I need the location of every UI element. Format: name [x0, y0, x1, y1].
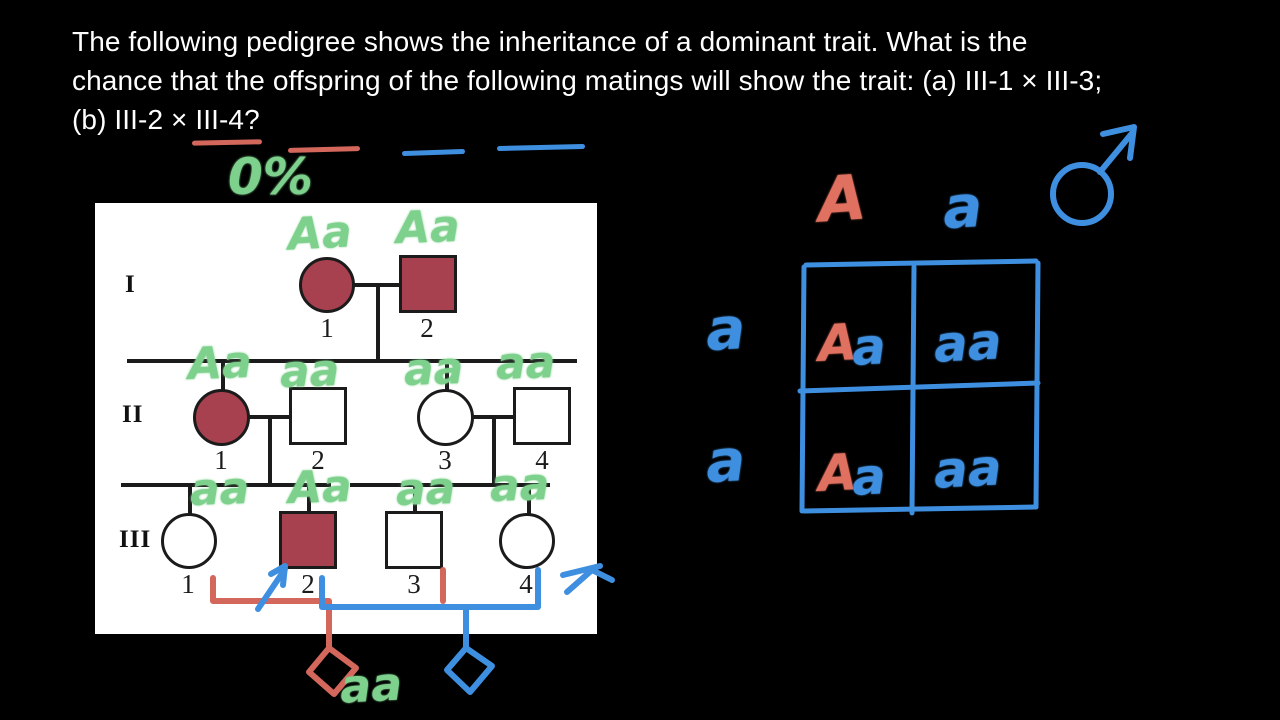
underline-iii-1 [192, 139, 262, 145]
punnett-grid [790, 255, 1050, 520]
individual-iii-3[interactable] [385, 511, 443, 569]
individual-iii-4[interactable] [499, 513, 555, 569]
punnett-side-gamete-a-1: a [705, 299, 747, 359]
question-text: The following pedigree shows the inherit… [72, 22, 1112, 139]
individual-i-1[interactable] [299, 257, 355, 313]
id-ii-1: 1 [194, 447, 248, 474]
answer-a-zero-percent: 0% [228, 152, 313, 202]
blue-diamond-icon [447, 648, 492, 692]
generation-label-i: I [125, 271, 136, 299]
punnett-top-gamete-A: A [816, 166, 868, 231]
sibship-line-iii-left [121, 483, 331, 487]
punnett-cell-0-1: aa [933, 316, 1003, 369]
individual-iii-2[interactable] [279, 511, 337, 569]
individual-iii-1[interactable] [161, 513, 217, 569]
descent-line-ii-left [268, 415, 272, 485]
slide-canvas: The following pedigree shows the inherit… [0, 0, 1280, 720]
id-iii-4: 4 [499, 571, 553, 598]
punnett-cell-1-0-a: a [851, 451, 887, 503]
individual-ii-2[interactable] [289, 387, 347, 445]
id-ii-3: 3 [418, 447, 472, 474]
pedigree-chart: I II III 1 2 1 2 3 4 1 [95, 203, 597, 634]
punnett-cell-0-0-A: A [817, 317, 858, 369]
descent-line-ii-right [492, 415, 496, 485]
id-i-2: 2 [400, 315, 454, 342]
descent-line-i [376, 283, 380, 362]
sibship-line-iii-right [350, 483, 550, 487]
id-ii-2: 2 [291, 447, 345, 474]
punnett-cell-0-0-a: a [851, 321, 887, 373]
individual-i-2[interactable] [399, 255, 457, 313]
id-i-1: 1 [300, 315, 354, 342]
drop-line-iii-1 [188, 483, 192, 515]
drop-line-ii-1 [221, 359, 225, 391]
id-iii-3: 3 [387, 571, 441, 598]
generation-label-ii: II [122, 401, 143, 429]
id-iii-2: 2 [281, 571, 335, 598]
individual-ii-3[interactable] [417, 389, 474, 446]
id-ii-4: 4 [515, 447, 569, 474]
punnett-top-gamete-a: a [942, 177, 984, 237]
underline-iii-3 [288, 146, 360, 153]
underline-iii-4 [497, 144, 585, 151]
underline-iii-2 [402, 149, 465, 156]
punnett-cell-1-0-A: A [817, 447, 858, 499]
drop-line-iii-4 [527, 483, 531, 515]
individual-ii-1[interactable] [193, 389, 250, 446]
id-iii-1: 1 [161, 571, 215, 598]
generation-label-iii: III [119, 526, 151, 554]
cross-result-genotype-aa: aa [339, 660, 403, 709]
drop-line-ii-3 [445, 359, 449, 391]
sibship-line-ii [127, 359, 577, 363]
individual-ii-4[interactable] [513, 387, 571, 445]
punnett-cell-1-1: aa [933, 442, 1003, 495]
red-diamond-icon [309, 648, 356, 694]
punnett-side-gamete-a-2: a [705, 431, 747, 491]
